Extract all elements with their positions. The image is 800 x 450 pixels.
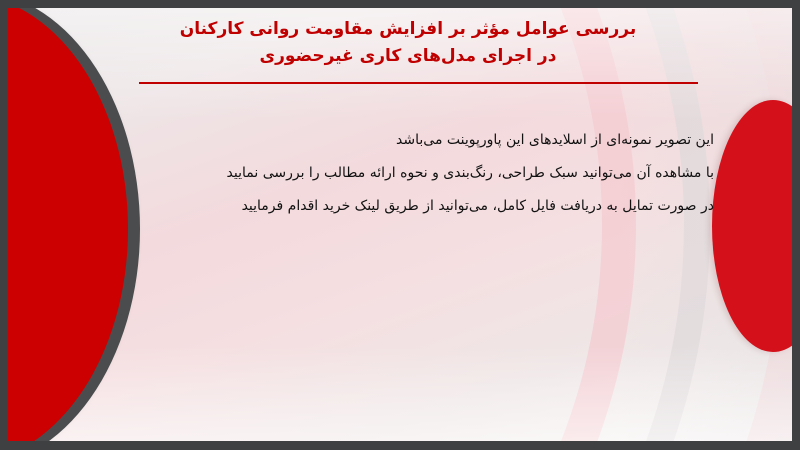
title-underline bbox=[139, 82, 698, 84]
slide-body-line-1: این تصویر نمونه‌ای از اسلایدهای این پاور… bbox=[94, 124, 714, 157]
slide-title: بررسی عوامل مؤثر بر افزایش مقاومت روانی … bbox=[108, 16, 708, 70]
slide-body: این تصویر نمونه‌ای از اسلایدهای این پاور… bbox=[94, 124, 714, 223]
presentation-slide: بررسی عوامل مؤثر بر افزایش مقاومت روانی … bbox=[0, 0, 800, 450]
slide-title-line-1: بررسی عوامل مؤثر بر افزایش مقاومت روانی … bbox=[108, 16, 708, 43]
slide-title-line-2: در اجرای مدل‌های کاری غیرحضوری bbox=[108, 43, 708, 70]
slide-body-line-2: با مشاهده آن می‌توانید سبک طراحی، رنگ‌بن… bbox=[94, 157, 714, 190]
slide-canvas: بررسی عوامل مؤثر بر افزایش مقاومت روانی … bbox=[8, 8, 792, 441]
slide-body-line-3: در صورت تمایل به دریافت فایل کامل، می‌تو… bbox=[94, 190, 714, 223]
